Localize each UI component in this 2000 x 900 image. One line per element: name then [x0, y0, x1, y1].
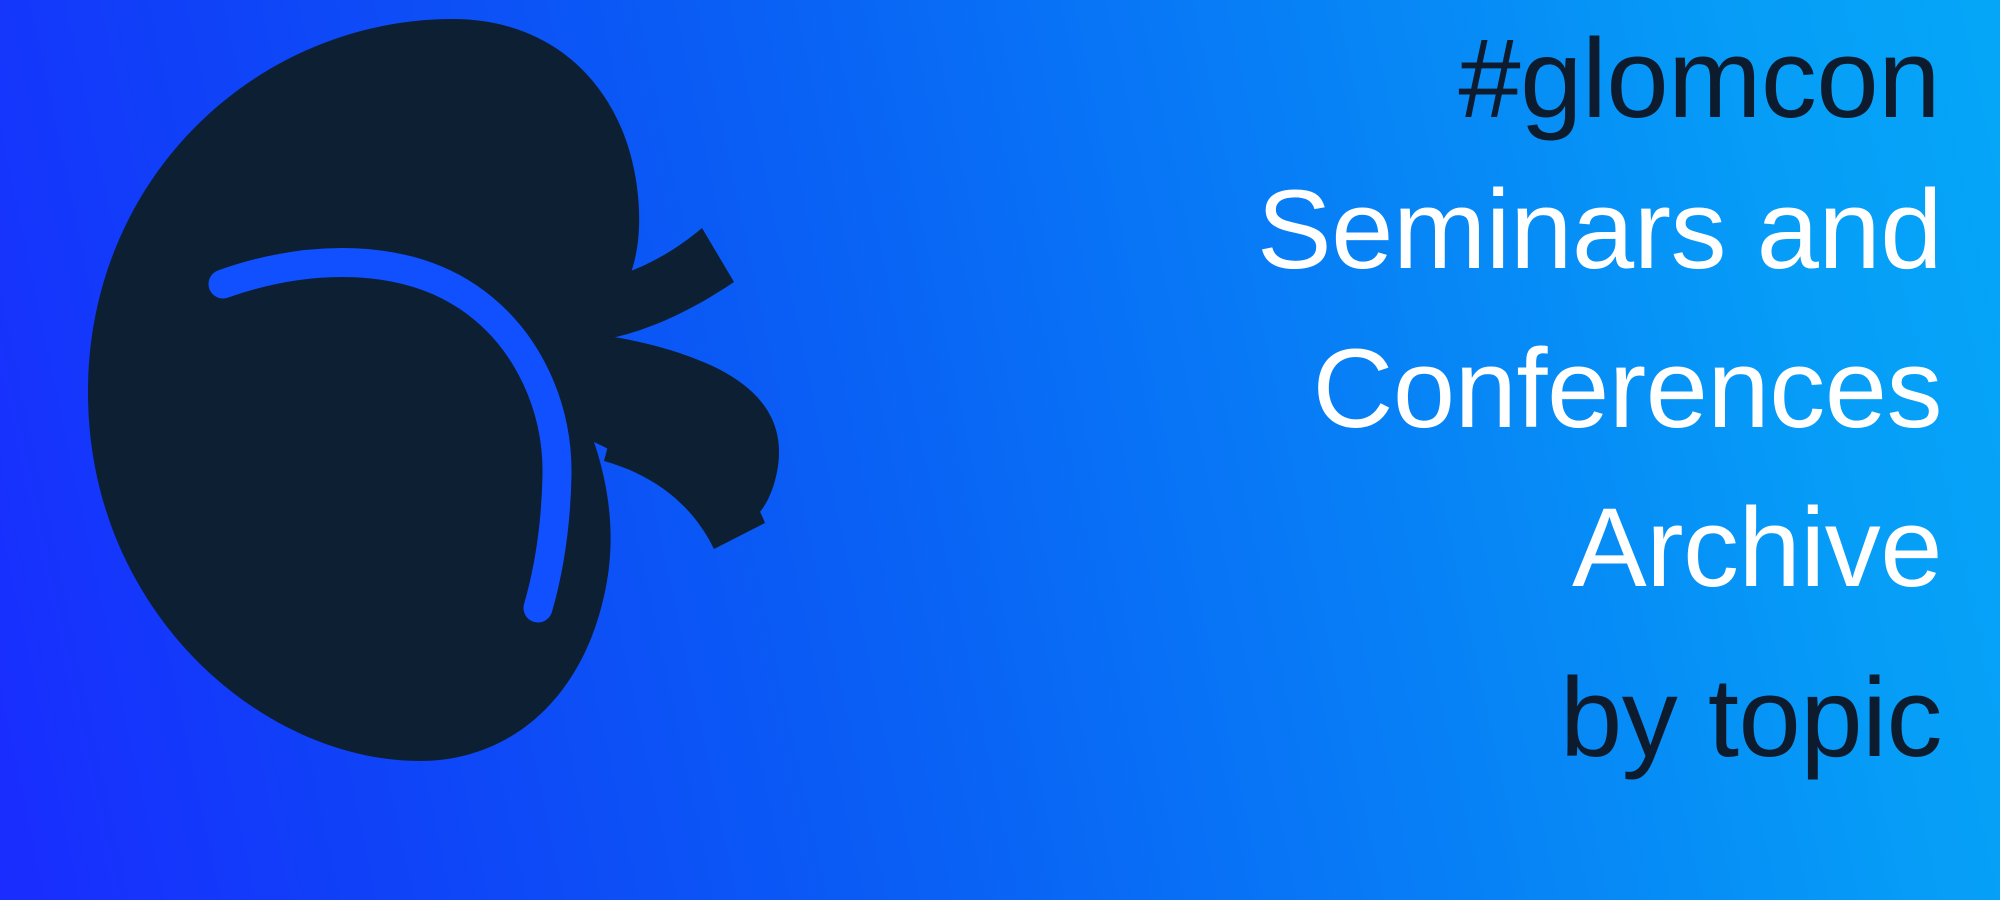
archive-line: Archive: [1572, 476, 1942, 619]
conferences-line: Conferences: [1312, 317, 1942, 460]
bytopic-line: by topic: [1560, 646, 1942, 789]
hashtag-line: #glomcon: [1458, 6, 1940, 152]
kidney-logo: [58, 0, 878, 900]
glomcon-banner: #glomcon Seminars and Conferences Archiv…: [0, 0, 2000, 900]
kidney-logo-svg: [58, 0, 878, 900]
seminars-line: Seminars and: [1257, 158, 1942, 301]
kidney-body-icon: [88, 19, 779, 761]
banner-text-block: #glomcon Seminars and Conferences Archiv…: [882, 0, 1942, 900]
